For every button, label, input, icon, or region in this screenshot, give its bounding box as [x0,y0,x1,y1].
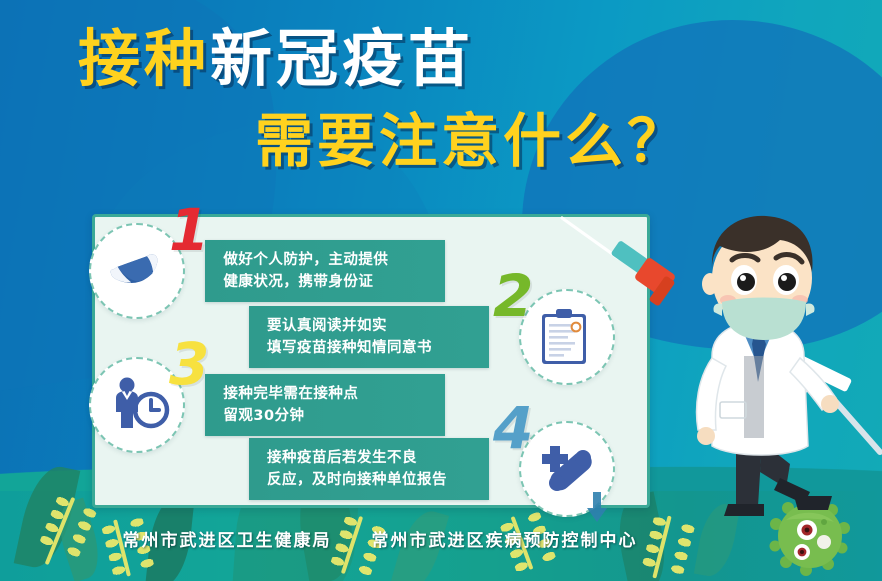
tip-text-1-line-1: 做好个人防护，主动提供 [223,249,429,271]
footer-organizations: 常州市武进区卫生健康局 常州市武进区疾病预防控制中心 [0,526,760,551]
title-highlight: 接种 [78,22,210,95]
tip-text-3-line-1: 接种完毕需在接种点 [223,383,429,405]
poster-title: 接种新冠疫苗 需要注意什么？ [0,28,760,170]
tip-text-band-4: 接种疫苗后若发生不良 反应，及时向接种单位报告 [249,438,489,501]
tip-text-4-line-2: 反应，及时向接种单位报告 [267,469,473,491]
title-rest: 新冠疫苗 [210,22,474,95]
tip-number-4: 4 [493,405,533,451]
title-question: 需要注意什么？ [255,107,689,175]
clipboard-document-icon [538,308,596,366]
tip-text-2-line-1: 要认真阅读并如实 [267,315,473,337]
vaccination-infographic-poster: 接种新冠疫苗 需要注意什么？ 1 做好个人防护，主动提供 [0,0,882,581]
title-line-2: 需要注意什么？ [0,112,760,170]
tip-number-2: 2 [493,273,533,319]
person-clock-icon [108,376,166,434]
tip-text-4-line-1: 接种疫苗后若发生不良 [267,447,473,469]
tip-number-3: 3 [169,341,209,387]
title-line-1: 接种新冠疫苗 [0,28,760,90]
doctor-with-syringe-illustration [640,206,882,536]
down-arrow-icon [586,492,608,522]
face-mask-icon [100,234,173,307]
footer-org-2: 常州市武进区疾病预防控制中心 [372,526,638,551]
phone-medical-cross-icon [538,440,596,498]
green-virus-character [766,494,852,574]
footer-org-1: 常州市武进区卫生健康局 [123,526,332,551]
tip-number-1: 1 [169,207,209,253]
tip-item-4: 接种疫苗后若发生不良 反应，及时向接种单位报告 4 [249,421,615,517]
